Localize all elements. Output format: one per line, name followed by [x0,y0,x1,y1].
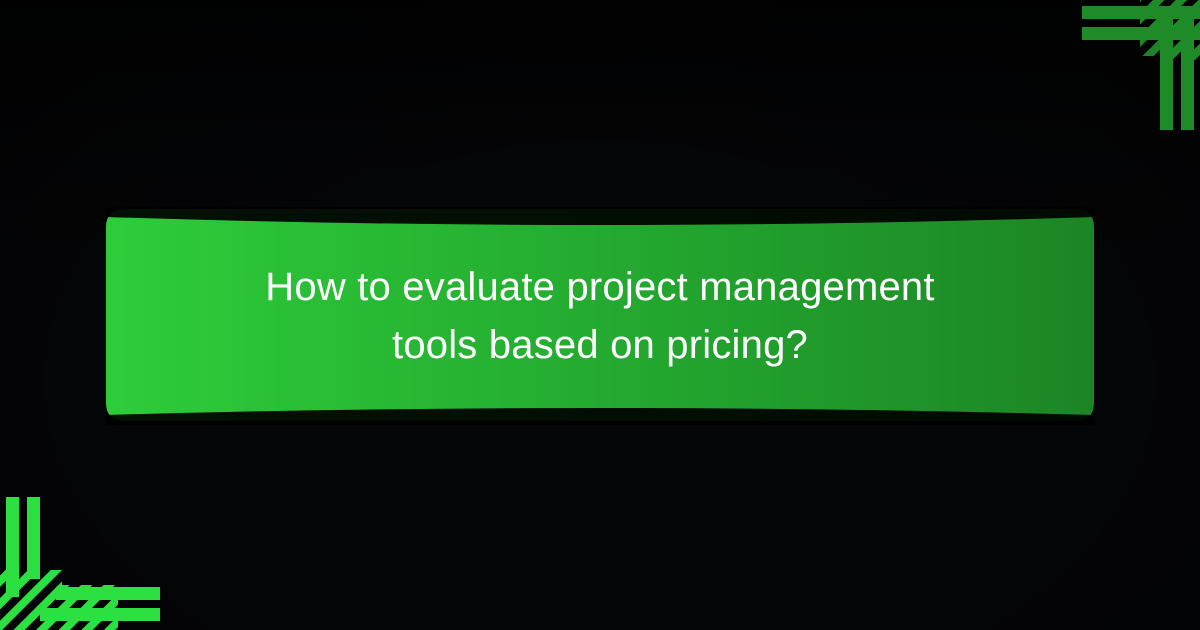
title-banner: How to evaluate project management tools… [100,205,1100,427]
title-banner-text: How to evaluate project management tools… [100,205,1100,427]
page-title: How to evaluate project management tools… [220,258,980,374]
social-card-canvas: How to evaluate project management tools… [0,0,1200,630]
